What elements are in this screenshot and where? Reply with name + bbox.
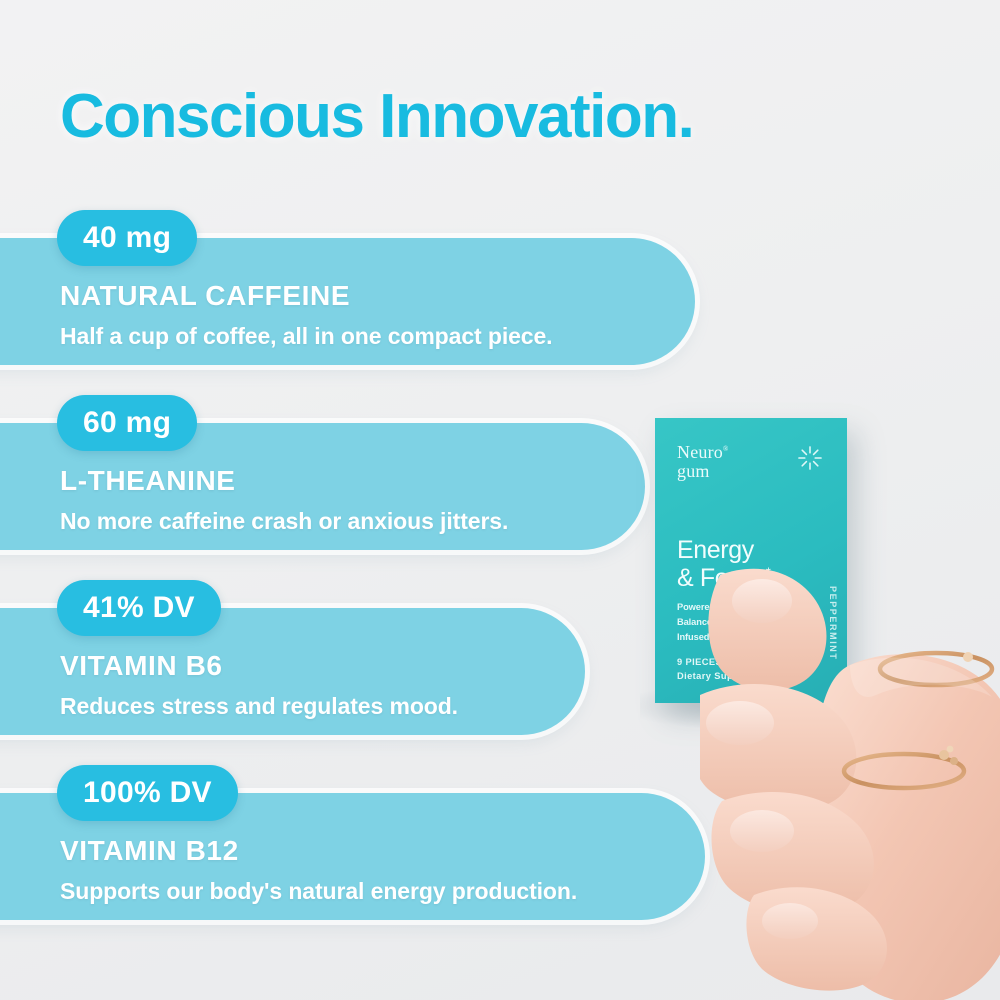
benefit-name: VITAMIN B6 — [60, 650, 223, 682]
brand-logo: Neuro® gum — [677, 443, 729, 481]
page-title: Conscious Innovation. — [60, 86, 693, 148]
benefit-amount-badge: 40 mg — [57, 210, 197, 266]
benefit-description: Reduces stress and regulates mood. — [60, 693, 458, 720]
brand-name-line-2: gum — [677, 461, 710, 481]
starburst-icon — [797, 445, 823, 471]
benefit-amount-badge: 60 mg — [57, 395, 197, 451]
benefit-name: NATURAL CAFFEINE — [60, 280, 350, 312]
registered-mark: ® — [723, 445, 729, 453]
benefit-name: VITAMIN B12 — [60, 835, 239, 867]
benefit-description: Half a cup of coffee, all in one compact… — [60, 323, 552, 350]
benefit-description: Supports our body's natural energy produ… — [60, 878, 577, 905]
infographic-canvas: Conscious Innovation. Neuro® gum Energy … — [0, 0, 1000, 1000]
brand-name-line-1: Neuro — [677, 442, 723, 462]
benefit-amount-badge: 100% DV — [57, 765, 238, 821]
benefit-amount-badge: 41% DV — [57, 580, 221, 636]
hand-holding-package — [700, 545, 1000, 1000]
benefit-description: No more caffeine crash or anxious jitter… — [60, 508, 508, 535]
benefit-name: L-THEANINE — [60, 465, 236, 497]
